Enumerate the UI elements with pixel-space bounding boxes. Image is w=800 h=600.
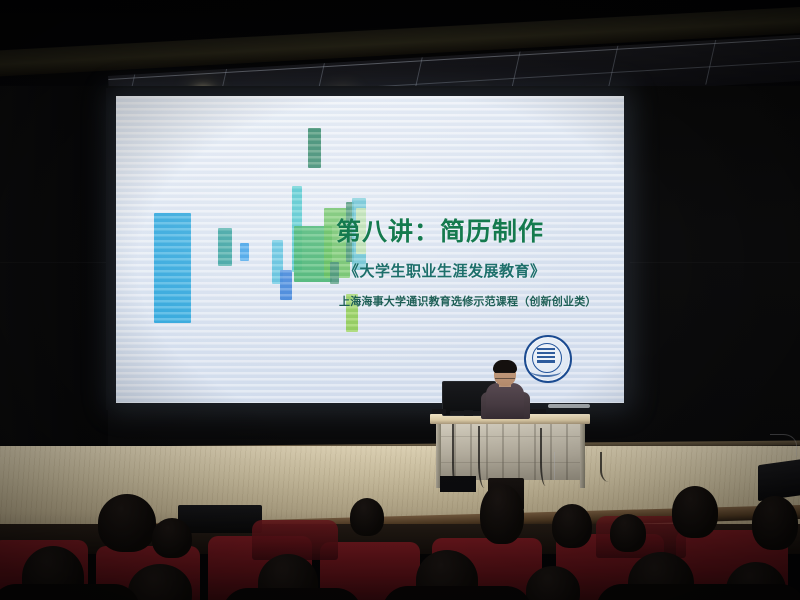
audience-head (350, 498, 384, 536)
desk-device-right (530, 409, 546, 414)
audience-head (98, 494, 156, 552)
seal-emblem-mark (537, 348, 555, 363)
presenter-torso (486, 383, 524, 419)
slide-bar-b3 (240, 243, 249, 261)
audience-head (152, 518, 192, 558)
slide-bar-b12 (308, 128, 321, 168)
audience-head (752, 496, 798, 550)
lecture-hall-screenshot: 第八讲：简历制作 《大学生职业生涯发展教育》 上海海事大学通识教育选修示范课程（… (0, 0, 800, 600)
slide-program-subtitle: 上海海事大学通识教育选修示范课程（创新创业类） (339, 293, 597, 309)
university-seal-icon (524, 335, 572, 383)
floor-cable (478, 426, 494, 488)
slide-title: 第八讲：简历制作 (336, 212, 544, 248)
slide-bar-b2 (218, 228, 232, 266)
presenter-glasses (495, 372, 515, 379)
audience-head (552, 504, 592, 548)
audience-shoulders (222, 588, 362, 600)
audience-head (672, 486, 718, 538)
tripod-stand (520, 452, 590, 482)
floor-cable (600, 452, 622, 482)
desk-device-left (432, 409, 446, 414)
slide-course-subtitle: 《大学生职业生涯发展教育》 (344, 260, 546, 281)
seal-arc-text (531, 366, 561, 377)
audience-head (480, 484, 524, 544)
slide-bar-b5 (280, 270, 292, 300)
desk-rail (548, 404, 590, 408)
audience-shoulders (0, 584, 140, 600)
audience-head (610, 514, 646, 552)
audience-area (0, 488, 800, 600)
slide-bar-b1 (154, 213, 191, 323)
mic-boom-stand (770, 434, 797, 457)
slide-bar-b14 (330, 262, 339, 284)
left-wall-panel (0, 86, 108, 458)
audience-shoulders (596, 584, 800, 600)
audience-shoulders (382, 586, 532, 600)
